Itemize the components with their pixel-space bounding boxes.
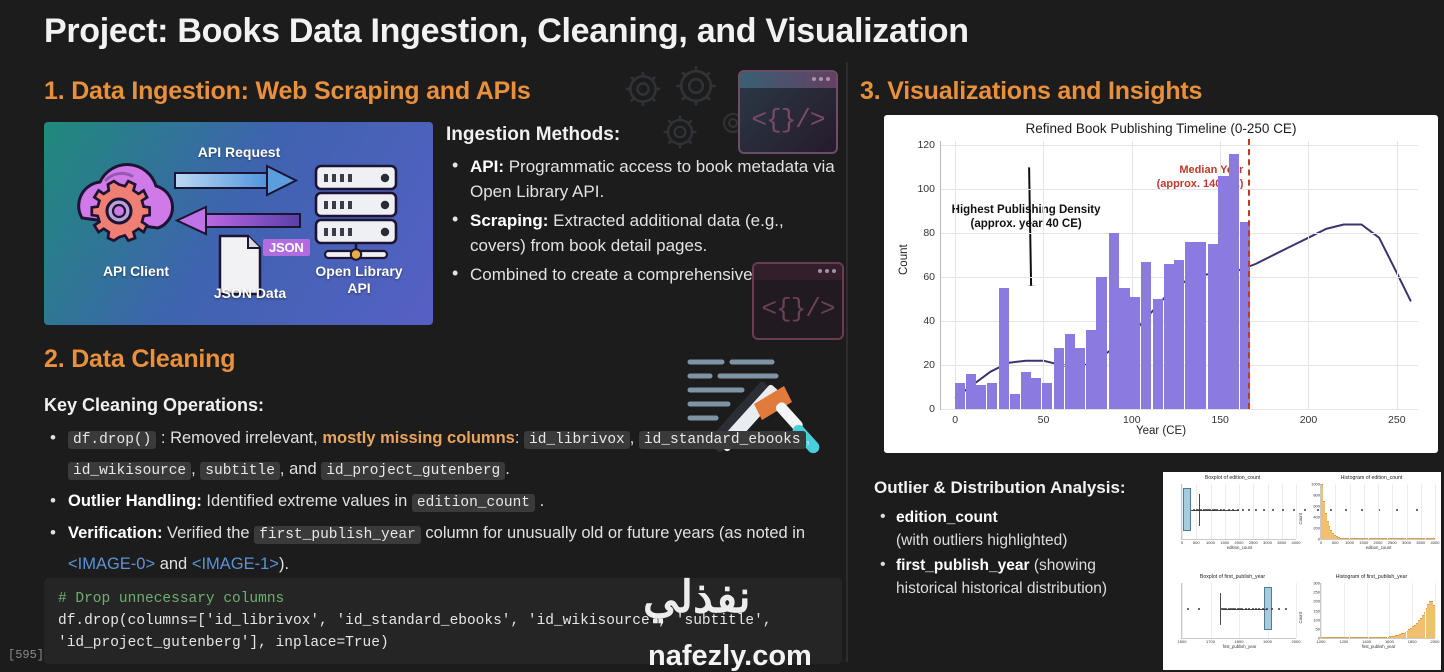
list-item-outlier: Outlier Handling: Identified extreme val… [44,487,834,518]
chart-bar [1218,176,1228,409]
chart-bar [1153,299,1163,409]
mini-plot-area: 05001000150020002500300035004000 [1181,484,1296,540]
outlier-point [1285,608,1287,610]
x-axis-tick: 100 [1123,414,1141,426]
cleaning-operations-list: df.drop() : Removed irrelevant, mostly m… [44,424,834,579]
y-axis-tick: 250 [1313,590,1320,595]
x-axis-tick: 3000 [1263,540,1272,545]
slide-root: Project: Books Data Ingestion, Cleaning,… [0,0,1444,672]
x-axis-tick: 2000 [1374,540,1383,545]
box [1183,488,1191,531]
api-request-label: API Request [174,144,304,160]
gridline [1239,583,1240,638]
x-axis-tick: 50 [1038,414,1050,426]
chart-bar [1174,260,1184,409]
gridline [941,233,1418,234]
text: , and [280,460,321,478]
mini-x-axis-label: edition_count [1181,545,1298,550]
x-axis-tick: 150 [1211,414,1229,426]
x-axis-tick: 0 [1320,540,1322,545]
method-label: Scraping: [470,211,548,230]
chart-bar [1010,394,1020,409]
window-dots-icon [812,77,830,81]
gear-icon [672,62,720,110]
open-library-api-label: Open LibraryAPI [294,263,424,297]
gridline [1308,141,1309,409]
gridline [1211,484,1212,539]
chart-bar [999,288,1009,409]
chart-bar [1119,288,1129,409]
code-token: first_publish_year [254,526,421,544]
gridline [1239,484,1240,539]
outlier-point [1232,509,1234,511]
mini-x-axis-label: first_publish_year [1181,644,1298,649]
x-axis-tick: 1800 [1235,639,1244,644]
distribution-panels-figure: Boxplot of edition_count0500100015002000… [1163,472,1441,670]
watermark-arabic: نفذلي [643,572,751,623]
x-axis-tick: 1700 [1206,639,1215,644]
mini-x-axis-label: first_publish_year [1320,644,1437,649]
x-axis-tick: 500 [1193,540,1200,545]
json-data-label: JSON Data [190,285,310,301]
watermark-latin: nafezly.com [648,640,812,672]
chart-plot-area: Highest Publishing Density(approx. year … [940,141,1418,410]
chart-bar [1075,348,1085,410]
column-divider [846,62,848,662]
frame-number: [595] [8,648,44,662]
api-client-label: API Client [56,263,216,279]
gridline [1378,484,1379,539]
y-axis-tick: 150 [1313,608,1320,613]
text: Verified the [162,524,254,542]
chart-bar [1195,242,1205,409]
list-item: first_publish_year (showing historical h… [874,554,1156,600]
gridline [1397,141,1398,409]
list-item: Scraping: Extracted additional data (e.g… [446,208,838,258]
outlier-point [1216,509,1218,511]
chart-bar [1164,264,1174,409]
gridline [1211,583,1212,638]
key-cleaning-operations-block: Key Cleaning Operations: df.drop() : Rem… [44,395,834,580]
code-window-icon: <{}/> [752,262,844,340]
x-axis-tick: 0 [952,414,958,426]
section-3-heading: 3. Visualizations and Insights [860,77,1202,106]
y-axis-tick: 400 [1313,515,1320,520]
outlier-point [1220,509,1222,511]
x-axis-tick: 2500 [1388,540,1397,545]
text: Identified extreme values in [202,492,412,510]
chart-bar [1065,334,1075,409]
x-axis-tick: 3500 [1277,540,1286,545]
mini-panel-title: Boxplot of first_publish_year [1167,574,1298,581]
text: , [630,429,639,447]
outlier-point [1282,509,1284,511]
outlier-point [1255,608,1257,610]
gridline [1389,583,1390,638]
text: , [191,460,200,478]
gridline [1043,141,1044,409]
gridline [941,145,1418,146]
y-axis-tick: 100 [1313,617,1320,622]
gridline [1182,583,1183,638]
boxplot-first-publish-year: Boxplot of first_publish_year15001700180… [1163,571,1302,670]
x-axis-tick: 1900 [1263,639,1272,644]
x-axis-tick: 1600 [1385,639,1394,644]
chart-bar [1109,233,1119,409]
outlier-point [1255,509,1257,511]
mini-panel-title: Histogram of edition_count [1306,475,1437,482]
text: : [515,429,524,447]
server-stack-icon [316,166,396,260]
x-axis-tick: 200 [1300,414,1318,426]
gridline [1350,484,1351,539]
chart-bar [976,385,986,409]
y-axis-tick: 100 [917,183,935,195]
code-token: subtitle [200,462,280,480]
outlier-point [1242,509,1244,511]
chart-bar [1086,330,1096,409]
gridline [1296,583,1297,638]
outlier-analysis-heading: Outlier & Distribution Analysis: [874,478,1156,498]
gridline [1344,583,1345,638]
chart-bar [1042,383,1052,409]
y-axis-tick: 80 [923,227,935,239]
gear-icon [622,68,664,110]
mini-plot-area: 1000120014001600180020000501001502002503… [1320,583,1435,639]
y-axis-tick: 600 [1313,504,1320,509]
code-window-titlebar [740,72,836,88]
outlier-point [1198,608,1200,610]
mini-plot-area: 15001700180019002000 [1181,583,1296,639]
x-axis-tick: 3000 [1402,540,1411,545]
gridline [1364,484,1365,539]
outlier-point [1263,509,1265,511]
code-token: id_project_gutenberg [321,462,505,480]
text: ). [279,555,289,573]
outlier-point [1228,509,1230,511]
x-axis-tick: 2500 [1249,540,1258,545]
api-flow-diagram: API Request API Client JSON JSON Data Op… [44,122,433,325]
outlier-point [1278,608,1280,610]
x-axis-tick: 2000 [1431,639,1440,644]
section-2-heading: 2. Data Cleaning [44,345,235,374]
code-token: id_wikisource [68,462,191,480]
y-axis-tick: 0 [1318,537,1320,542]
chart-y-axis-label: Count [898,244,910,275]
cleaning-operations-heading: Key Cleaning Operations: [44,395,834,416]
gridline [1253,484,1254,539]
x-axis-tick: 1000 [1206,540,1215,545]
mini-panel-title: Histogram of first_publish_year [1306,574,1437,581]
code-glyph: <{}/> [754,280,842,338]
gridline [1335,484,1336,539]
gridline [1225,484,1226,539]
chart-bar [1208,244,1218,409]
list-item-verification: Verification: Verified the first_publish… [44,519,834,579]
code-token: df.drop() [68,431,156,449]
bullet-label: Verification: [68,524,162,542]
x-axis-tick: 1500 [1220,540,1229,545]
mini-panel-title: Boxplot of edition_count [1167,475,1298,482]
y-axis-tick: 0 [929,403,935,415]
y-axis-tick: 120 [917,139,935,151]
chart-bar [1054,348,1064,410]
x-axis-tick: 1800 [1408,639,1417,644]
x-axis-tick: 1500 [1359,540,1368,545]
y-axis-tick: 800 [1313,493,1320,498]
mini-x-axis-label: edition_count [1320,545,1437,550]
x-axis-tick: 2000 [1235,540,1244,545]
section-1-heading: 1. Data Ingestion: Web Scraping and APIs [44,77,531,106]
x-axis-tick: 250 [1388,414,1406,426]
mini-y-axis-label: Count [1298,513,1303,524]
text: and [155,555,192,573]
json-badge: JSON [263,239,310,256]
y-axis-tick: 200 [1313,526,1320,531]
chart-bar [1031,378,1041,409]
y-axis-tick: 50 [1316,626,1320,631]
ingestion-methods-heading: Ingestion Methods: [446,124,838,146]
outlier-field-desc: (with outliers highlighted) [896,532,1067,549]
chart-x-axis-label: Year (CE) [884,425,1438,437]
outlier-point [1241,608,1243,610]
page-title: Project: Books Data Ingestion, Cleaning,… [44,12,969,51]
list-item-drop: df.drop() : Removed irrelevant, mostly m… [44,424,834,486]
y-axis-tick: 60 [923,271,935,283]
outlier-point [1293,509,1295,511]
outlier-point [1200,509,1202,511]
chart-title: Refined Book Publishing Timeline (0-250 … [884,121,1438,136]
mini-plot-area: 0500100015002000250030003500400002004006… [1320,484,1435,540]
outlier-distribution-block: Outlier & Distribution Analysis: edition… [874,478,1156,602]
window-dots-icon [818,269,836,273]
x-axis-tick: 1000 [1345,540,1354,545]
text: : Removed irrelevant, [156,429,322,447]
chart-bar [955,383,965,409]
chart-bar [1185,242,1195,409]
y-axis-tick: 40 [923,315,935,327]
gridline [941,409,1418,410]
image-reference-1[interactable]: <IMAGE-1> [192,555,279,573]
chart-bar [1141,262,1151,409]
text: , [806,429,811,447]
code-token: edition_count [412,494,535,512]
x-axis-tick: 2000 [1292,639,1301,644]
x-axis-tick: 1200 [1339,639,1348,644]
method-label: API: [470,157,504,176]
code-window-titlebar [754,264,842,280]
gridline [1421,484,1422,539]
outlier-point [1187,608,1189,610]
y-axis-tick: 300 [1313,581,1320,586]
x-axis-tick: 4000 [1292,540,1301,545]
code-token: id_standard_ebooks [639,431,806,449]
outlier-point [1252,608,1254,610]
x-axis-tick: 500 [1332,540,1339,545]
histogram-bar [1433,538,1435,539]
gridline [941,189,1418,190]
outlier-point [1245,608,1247,610]
median-year-line [1248,139,1250,409]
method-text: Programmatic access to book metadata via… [470,157,835,201]
outlier-field-name: first_publish_year [896,557,1030,574]
x-axis-tick: 1500 [1178,639,1187,644]
outlier-point [1271,608,1273,610]
chart-bar [966,374,976,409]
chart-bar [1021,372,1031,409]
y-axis-tick: 200 [1313,599,1320,604]
y-axis-tick: 1000 [1311,482,1320,487]
x-axis-tick: 1400 [1362,639,1371,644]
list-item: API: Programmatic access to book metadat… [446,154,838,204]
json-response-arrow-icon [177,207,300,234]
outlier-point [1272,509,1274,511]
mini-y-axis-label: Count [1298,612,1303,623]
outlier-field-name: edition_count [896,509,998,526]
x-axis-tick: 4000 [1431,540,1440,545]
highlight-text: mostly missing columns [322,429,515,447]
chart-bar [987,383,997,409]
list-item: edition_count(with outliers highlighted) [874,506,1156,552]
chart-bar [1096,277,1106,409]
image-reference-0[interactable]: <IMAGE-0> [68,555,155,573]
histogram-bar [1433,605,1435,638]
x-axis-tick: 3500 [1416,540,1425,545]
chart-bar [1130,297,1140,409]
boxplot-edition-count: Boxplot of edition_count0500100015002000… [1163,472,1302,571]
y-axis-tick: 0 [1318,636,1320,641]
x-axis-tick: 0 [1181,540,1183,545]
gridline [1367,583,1368,638]
gridline [1435,583,1436,638]
gridline [1321,583,1322,638]
gridline [1296,484,1297,539]
code-token: id_librivox [524,431,630,449]
text: . [535,492,544,510]
gridline [1392,484,1393,539]
outlier-point [1248,509,1250,511]
outlier-point [1248,608,1250,610]
histogram-edition-count: Histogram of edition_countCount050010001… [1302,472,1441,571]
histogram-first-publish-year: Histogram of first_publish_yearCount1000… [1302,571,1441,670]
api-request-arrow-icon [175,166,296,195]
gridline [1268,484,1269,539]
outlier-analysis-list: edition_count(with outliers highlighted)… [874,506,1156,600]
gridline [955,141,956,409]
gridline [1282,484,1283,539]
gridline [1196,484,1197,539]
y-axis-tick: 20 [923,359,935,371]
gridline [1435,484,1436,539]
gridline [1407,484,1408,539]
text: column for unusually old or future years… [421,524,805,542]
bullet-label: Outlier Handling: [68,492,202,510]
publishing-timeline-chart: Refined Book Publishing Timeline (0-250 … [884,115,1438,453]
text: . [505,460,510,478]
chart-bar [1229,154,1239,409]
